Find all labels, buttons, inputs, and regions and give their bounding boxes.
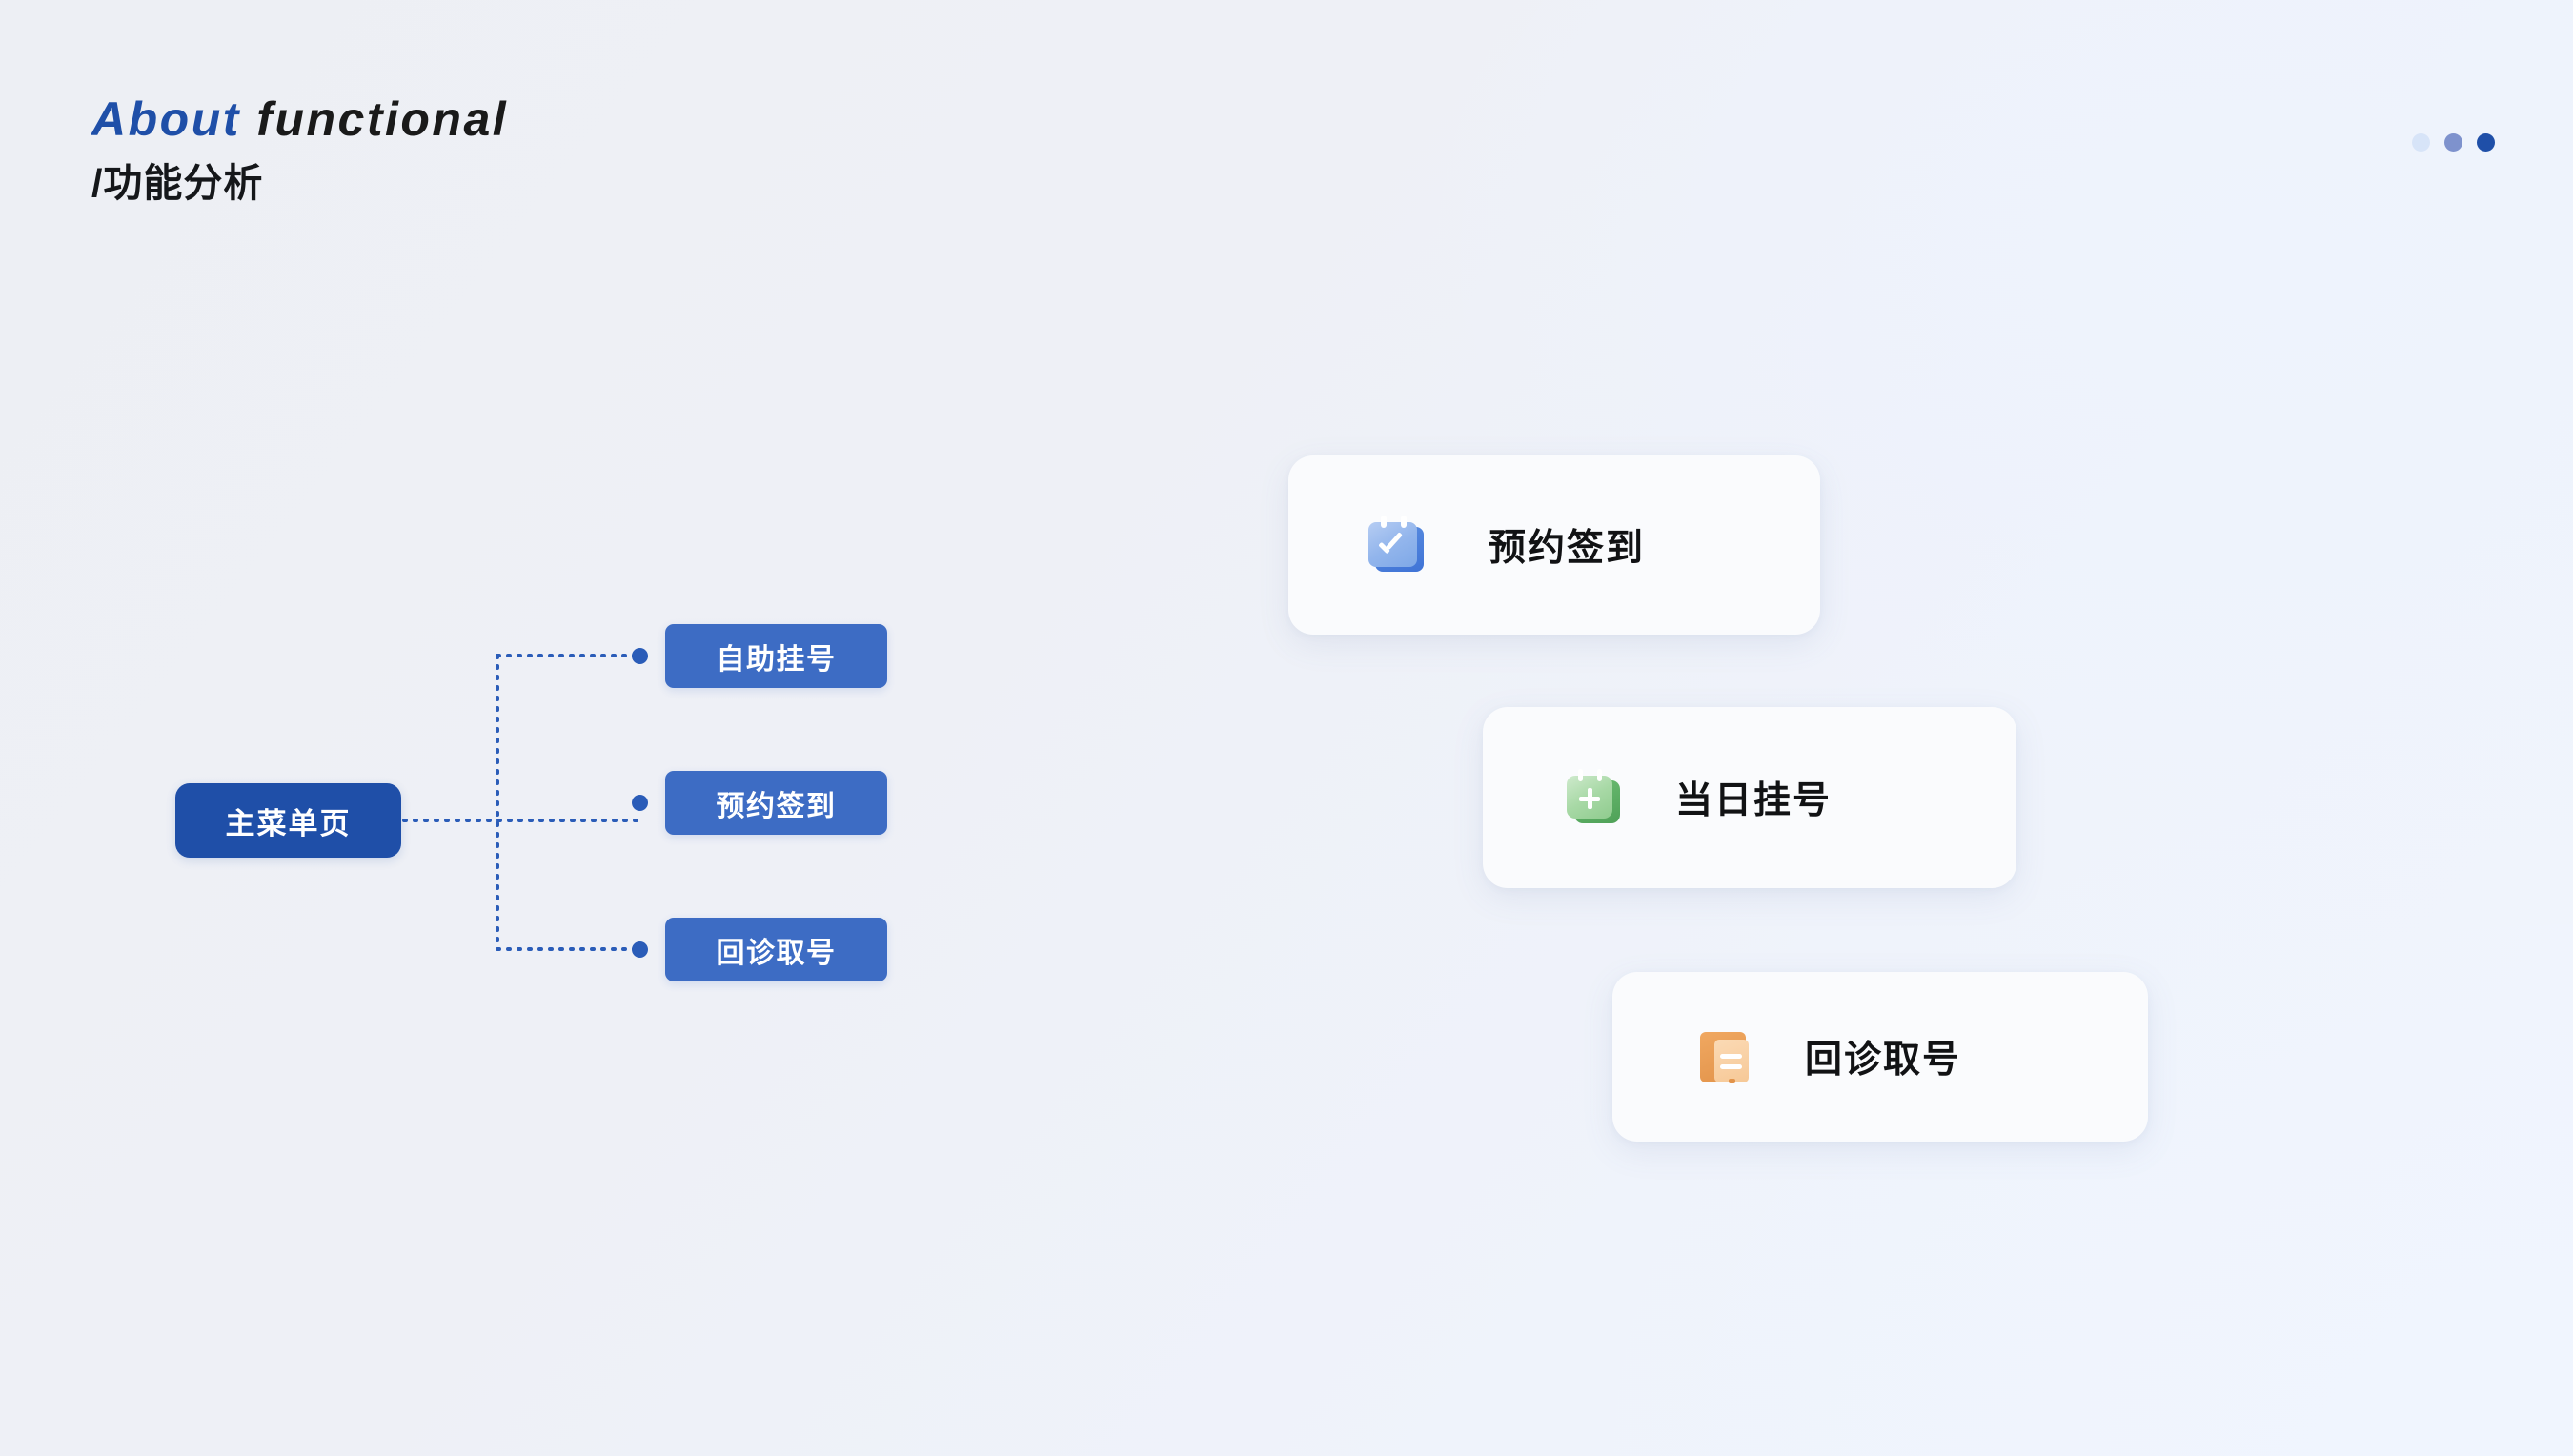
connector-endpoint-dot	[632, 648, 648, 664]
page-dot-1[interactable]	[2412, 133, 2430, 152]
mindmap-branch-node-self-registration[interactable]: 自助挂号	[665, 624, 887, 688]
calendar-plus-icon	[1565, 768, 1624, 827]
mindmap-branch-node-appointment-checkin[interactable]: 预约签到	[665, 771, 887, 835]
document-icon	[1698, 1027, 1757, 1086]
mindmap-branch-node-return-visit[interactable]: 回诊取号	[665, 918, 887, 981]
page-dot-3[interactable]	[2477, 133, 2495, 152]
connector-endpoint-dot	[632, 795, 648, 811]
pagination-dots[interactable]	[2412, 133, 2495, 152]
connector-endpoint-dot	[632, 941, 648, 958]
feature-card-label: 回诊取号	[1805, 1030, 1961, 1083]
feature-card-appointment-checkin[interactable]: 预约签到	[1288, 455, 1820, 635]
slide-canvas: About functional /功能分析 主菜单页 自助挂号 预约签到 回诊…	[0, 0, 2573, 1456]
mindmap-connector-lines	[0, 0, 1048, 1456]
feature-card-same-day-registration[interactable]: 当日挂号	[1483, 707, 2016, 888]
feature-card-label: 当日挂号	[1675, 771, 1832, 824]
feature-card-return-visit-number[interactable]: 回诊取号	[1612, 972, 2148, 1142]
mindmap-diagram: 主菜单页 自助挂号 预约签到 回诊取号	[0, 0, 1048, 1456]
calendar-check-icon	[1367, 516, 1426, 575]
mindmap-root-node[interactable]: 主菜单页	[175, 783, 401, 858]
page-dot-2[interactable]	[2444, 133, 2462, 152]
feature-card-label: 预约签到	[1489, 518, 1645, 572]
